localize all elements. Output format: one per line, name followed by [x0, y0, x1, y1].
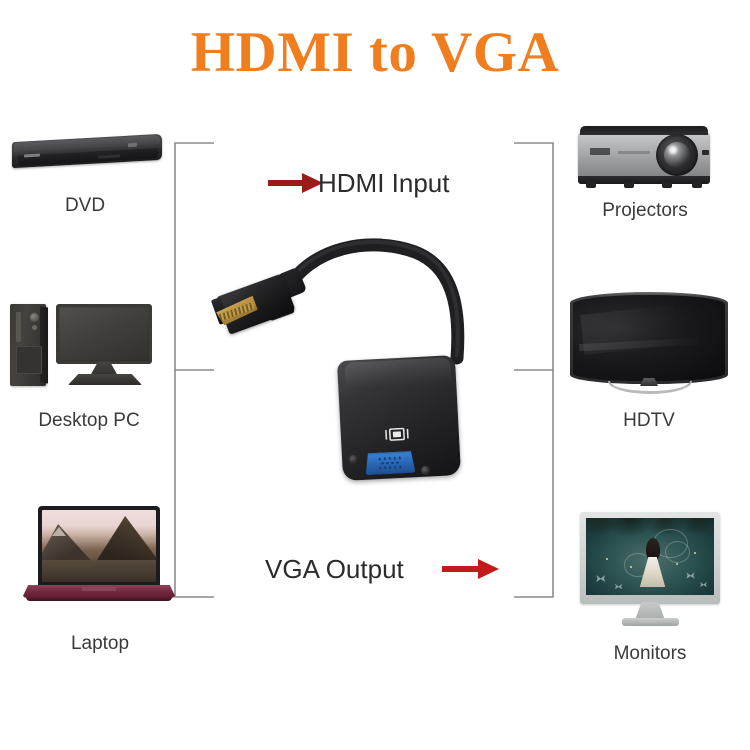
projector-icon — [578, 122, 710, 192]
source-label-laptop: Laptop — [0, 633, 200, 655]
page-title: HDMI to VGA — [0, 22, 750, 85]
source-label-dvd: DVD — [0, 195, 170, 217]
vga-output-arrow-icon — [442, 556, 500, 582]
hdtv-icon — [570, 292, 728, 398]
source-bracket — [170, 140, 220, 600]
display-label-monitors: Monitors — [570, 643, 730, 665]
vga-monitor-glyph-icon — [385, 427, 410, 443]
source-label-desktop-pc: Desktop PC — [0, 410, 178, 432]
hdmi-input-label: HDMI Input — [318, 168, 450, 199]
desktop-pc-icon — [10, 288, 160, 392]
vga-pin-holes — [370, 455, 411, 471]
vga-output-label: VGA Output — [265, 554, 404, 585]
hdmi-input-arrow-icon — [268, 170, 324, 196]
monitor-icon — [580, 512, 720, 628]
display-label-hdtv: HDTV — [570, 410, 728, 432]
laptop-icon — [22, 506, 176, 604]
dvd-player-icon — [12, 124, 162, 174]
hdmi-to-vga-adapter — [215, 240, 495, 490]
product-infographic: HDMI to VGA DVD Desktop PC — [0, 0, 750, 750]
display-label-projectors: Projectors — [570, 200, 720, 222]
display-bracket — [508, 140, 558, 600]
